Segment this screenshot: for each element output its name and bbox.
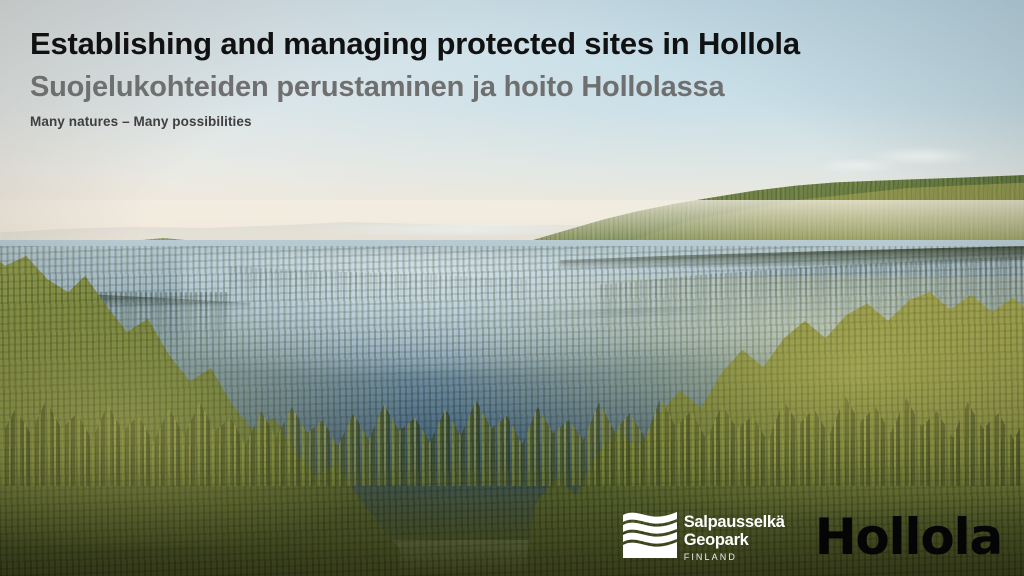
page-tagline: Many natures – Many possibilities	[30, 114, 1024, 129]
lake-sky-reflection-secondary	[600, 285, 1000, 375]
salpausselka-geopark-logo: Salpausselkä Geopark FINLAND	[623, 511, 785, 562]
logo-row: Salpausselkä Geopark FINLAND Hollola	[623, 511, 1002, 562]
page-subtitle: Suojelukohteiden perustaminen ja hoito H…	[30, 70, 1024, 104]
geopark-country-label: FINLAND	[684, 553, 785, 562]
presentation-slide: Establishing and managing protected site…	[0, 0, 1024, 576]
geopark-name-line2: Geopark	[684, 532, 785, 550]
wavy-lines-icon	[623, 511, 677, 558]
geopark-name-line1: Salpausselkä	[684, 514, 785, 532]
page-title: Establishing and managing protected site…	[30, 26, 1024, 63]
slide-header: Establishing and managing protected site…	[0, 0, 1024, 129]
geopark-wordmark: Salpausselkä Geopark FINLAND	[684, 511, 785, 562]
hollola-municipality-logo: Hollola	[815, 512, 1002, 562]
cloud-wisp-secondary	[814, 160, 904, 171]
